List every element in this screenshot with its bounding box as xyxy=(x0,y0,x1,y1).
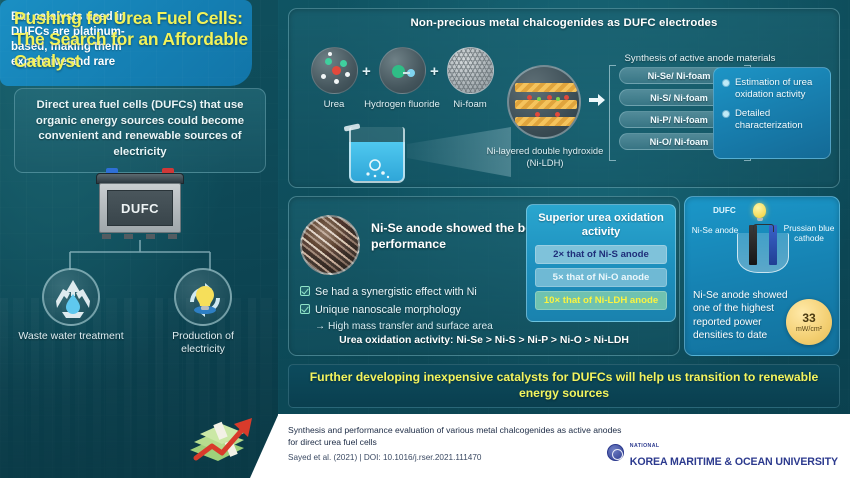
outcomes-box: Estimation of urea oxidation activity De… xyxy=(713,67,831,159)
beaker-icon xyxy=(349,127,405,183)
recycle-water-icon xyxy=(42,268,100,326)
money-growth-icon xyxy=(172,406,272,468)
synthesis-subtitle: Synthesis of active anode materials xyxy=(605,53,795,64)
lightbulb-icon xyxy=(753,203,766,218)
logo-small-text: NATIONAL xyxy=(630,443,660,449)
battery-icon: DUFC xyxy=(96,168,184,240)
outcome-item-characterization: Detailed characterization xyxy=(722,108,822,132)
sem-image-icon xyxy=(300,215,360,275)
ni-ldh-caption: Ni-layered double hydroxide (Ni-LDH) xyxy=(485,145,605,169)
right-column: Non-precious metal chalcogenides as DUFC… xyxy=(278,0,850,478)
reactant-label-urea: Urea xyxy=(295,99,373,111)
check-item-synergy: Se had a synergistic effect with Ni xyxy=(300,285,477,298)
reactant-label-nifoam: Ni-foam xyxy=(431,99,509,111)
superior-activity-title: Superior urea oxidation activity xyxy=(535,212,667,239)
benefit-label-waste: Waste water treatment xyxy=(17,330,125,343)
page-title: Pushing for Urea Fuel Cells: The Search … xyxy=(14,8,266,72)
check-item-morphology: Unique nanoscale morphology xyxy=(300,303,461,316)
superior-activity-box: Superior urea oxidation activity 2× that… xyxy=(526,204,676,322)
lightbulb-energy-icon xyxy=(174,268,232,326)
footer-paper-title: Synthesis and performance evaluation of … xyxy=(288,424,628,464)
badge-value: 33 xyxy=(802,312,815,324)
paper-title-text: Synthesis and performance evaluation of … xyxy=(288,424,628,448)
checkbox-icon xyxy=(300,304,310,314)
university-seal-icon xyxy=(607,444,624,461)
bullet-dot-icon xyxy=(723,80,729,86)
dufc-cell-label: DUFC xyxy=(713,206,736,215)
university-logo: NATIONAL KOREA MARITIME & OCEAN UNIVERSI… xyxy=(607,434,838,470)
plus-symbol-2: + xyxy=(430,63,439,80)
intro-card: Direct urea fuel cells (DUFCs) that use … xyxy=(14,88,266,173)
plus-symbol-1: + xyxy=(362,63,371,80)
cathode-label: Prussian blue cathode xyxy=(783,223,835,243)
bracket-left xyxy=(609,65,616,161)
synthesis-panel-title: Non-precious metal chalcogenides as DUFC… xyxy=(289,17,839,29)
urea-molecule-icon xyxy=(311,47,358,94)
anode-label: Ni-Se anode xyxy=(691,225,739,235)
infographic-root: Pushing for Urea Fuel Cells: The Search … xyxy=(0,0,850,478)
conclusion-banner: Further developing inexpensive catalysts… xyxy=(288,364,840,408)
activity-order-line: Urea oxidation activity: Ni-Se > Ni-S > … xyxy=(289,335,679,346)
battery-feet xyxy=(102,234,178,239)
hf-molecule-icon xyxy=(379,47,426,94)
sub-point-mass-transfer: → High mass transfer and surface area xyxy=(315,321,493,332)
fuel-cell-icon xyxy=(737,221,789,273)
superior-row-nis: 2× that of Ni-S anode xyxy=(535,245,667,264)
superior-row-nio: 5× that of Ni-O anode xyxy=(535,268,667,287)
synthesis-panel: Non-precious metal chalcogenides as DUFC… xyxy=(288,8,840,188)
circuit-wire xyxy=(753,224,774,232)
ni-ldh-structure-icon xyxy=(507,65,581,139)
left-column: Pushing for Urea Fuel Cells: The Search … xyxy=(0,0,278,478)
power-density-badge: 33 mW/cm² xyxy=(786,299,832,345)
right-arrow-icon-1 xyxy=(589,93,605,107)
footer-bar: Synthesis and performance evaluation of … xyxy=(278,414,850,478)
paper-citation[interactable]: Sayed et al. (2021) | DOI: 10.1016/j.rse… xyxy=(288,452,628,464)
ni-foam-icon xyxy=(447,47,494,94)
outcome-item-estimation: Estimation of urea oxidation activity xyxy=(722,77,822,101)
arrow-right-glyph: → xyxy=(315,321,325,332)
logo-name-text: KOREA MARITIME & OCEAN UNIVERSITY xyxy=(630,456,838,468)
reactant-label-hf: Hydrogen fluoride xyxy=(363,99,441,111)
checkbox-icon xyxy=(300,286,310,296)
badge-unit: mW/cm² xyxy=(796,326,822,333)
power-density-text: Ni-Se anode showed one of the highest re… xyxy=(693,289,799,342)
battery-label: DUFC xyxy=(107,190,173,226)
power-density-panel: DUFC Ni-Se anode Prussian blue cathode N… xyxy=(684,196,840,356)
bullet-dot-icon xyxy=(723,111,729,117)
benefit-label-electricity: Production of electricity xyxy=(149,330,257,356)
superior-row-nildh: 10× that of Ni-LDH anode xyxy=(535,291,667,310)
